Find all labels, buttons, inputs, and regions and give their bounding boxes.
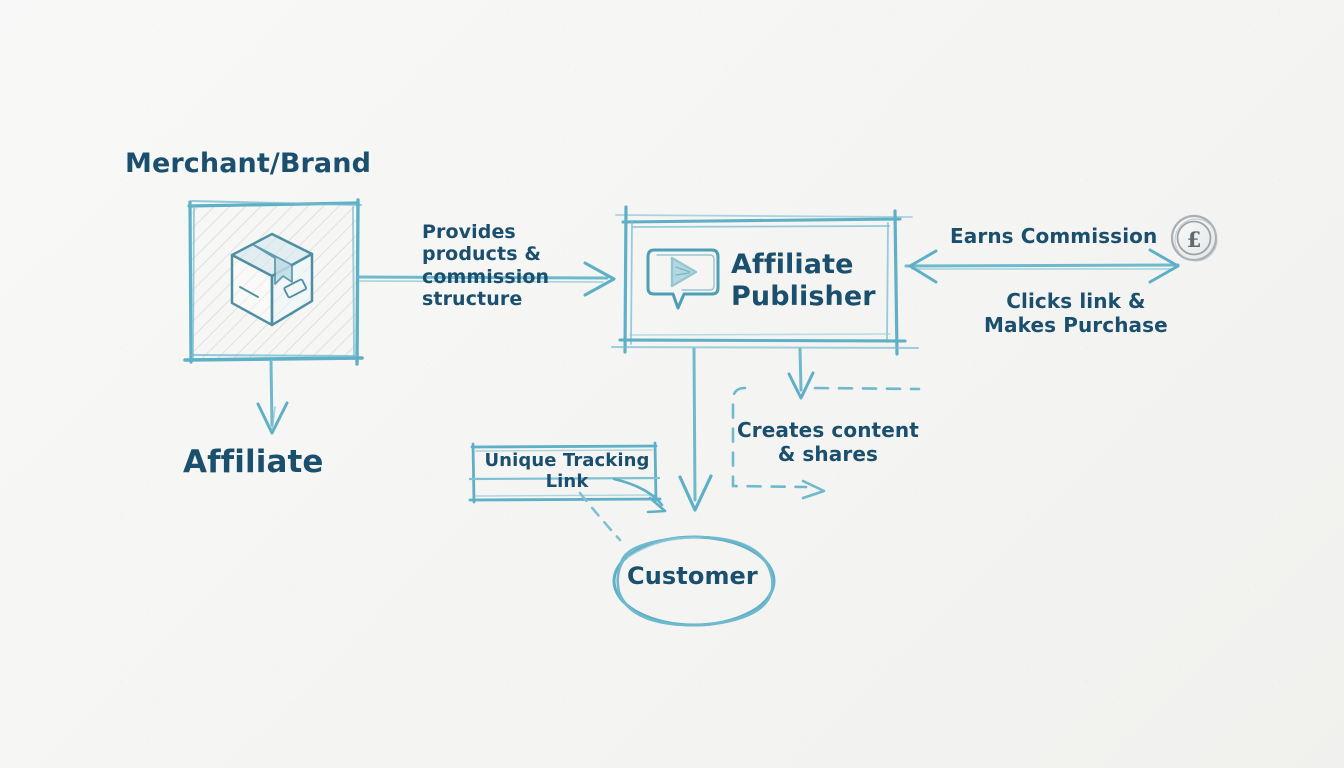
creates-content-label: Creates content& shares xyxy=(737,419,919,466)
tracking-line1: Unique Tracking xyxy=(484,450,649,471)
arrow-content-share xyxy=(803,481,824,498)
provides-line4: structure xyxy=(422,288,522,310)
creates-line2: & shares xyxy=(778,442,878,466)
publisher-title: AffiliatePublisher xyxy=(731,249,876,313)
merchant-title: Merchant/Brand xyxy=(125,148,371,180)
edge-label-provides: Providesproducts &commissionstructure xyxy=(422,221,549,311)
clicks-line2: Makes Purchase xyxy=(984,313,1168,337)
creates-line1: Creates content xyxy=(737,418,919,442)
publisher-title-line1: Affiliate xyxy=(731,249,854,280)
diagram-svg: £ xyxy=(0,0,1344,768)
tracking-link-label: Unique TrackingLink xyxy=(481,450,653,492)
arrow-commission-bidirectional xyxy=(906,250,1178,282)
provides-line2: products & xyxy=(422,243,541,265)
arrow-publisher-to-content xyxy=(789,349,813,398)
edge-label-clicks-purchase: Clicks link &Makes Purchase xyxy=(984,290,1168,337)
provides-line3: commission xyxy=(422,266,549,288)
customer-label: Customer xyxy=(627,562,758,590)
arrow-merchant-to-affiliate xyxy=(258,361,287,433)
clicks-line1: Clicks link & xyxy=(1006,289,1145,313)
arrow-publisher-to-customer xyxy=(680,349,711,510)
provides-line1: Provides xyxy=(422,221,516,243)
affiliate-title: Affiliate xyxy=(183,444,324,481)
svg-text:£: £ xyxy=(1187,227,1202,252)
publisher-title-line2: Publisher xyxy=(731,281,876,312)
edge-label-earns-commission: Earns Commission xyxy=(950,225,1157,249)
diagram-canvas: £ xyxy=(0,0,1344,768)
video-speech-bubble-icon xyxy=(648,250,718,308)
pound-coin-icon: £ xyxy=(1172,216,1217,261)
tracking-line2: Link xyxy=(546,471,589,492)
